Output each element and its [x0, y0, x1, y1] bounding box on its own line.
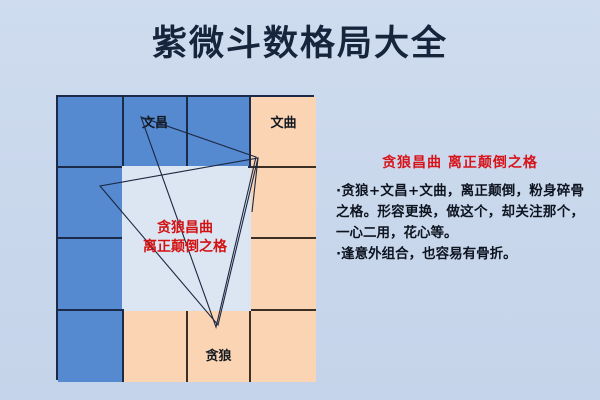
chart-cell-label: 文昌 — [142, 112, 168, 131]
info-heading: 贪狼昌曲 离正颠倒之格 — [336, 152, 584, 172]
astrology-chart: 文昌 文曲 贪狼 — [56, 95, 314, 380]
slide-canvas: 紫微斗数格局大全 文昌 文曲 贪狼 — [0, 0, 600, 400]
chart-cell-label: 贪狼 — [205, 345, 231, 364]
chart-cell-r3c4[interactable] — [251, 239, 316, 311]
chart-cell-r2c4[interactable] — [251, 168, 316, 239]
chart-cell-label: 文曲 — [270, 112, 296, 131]
chart-cell-r1c2-wenchang[interactable]: 文昌 — [124, 97, 188, 168]
chart-cell-r4c1[interactable] — [58, 311, 124, 382]
chart-cell-r2c1[interactable] — [58, 168, 124, 239]
chart-center-pane — [122, 166, 248, 309]
info-paragraph-2: ·逢意外组合，也容易有骨折。 — [336, 244, 584, 265]
chart-cell-r1c1[interactable] — [58, 97, 124, 168]
chart-cell-r3c1[interactable] — [58, 239, 124, 311]
chart-cell-r4c2[interactable] — [124, 311, 188, 382]
chart-cell-r1c4-wenqu[interactable]: 文曲 — [251, 97, 316, 168]
chart-cell-r4c4[interactable] — [251, 311, 316, 382]
page-title: 紫微斗数格局大全 — [0, 22, 600, 66]
chart-cell-r4c3-tanlang[interactable]: 贪狼 — [188, 311, 251, 382]
info-panel: 贪狼昌曲 离正颠倒之格 ·贪狼+文昌+文曲，离正颠倒，粉身碎骨之格。形容更换，做… — [336, 152, 584, 265]
info-paragraph-1: ·贪狼+文昌+文曲，离正颠倒，粉身碎骨之格。形容更换，做这个，却关注那个，一心二… — [336, 181, 584, 244]
chart-cell-r1c3[interactable] — [188, 97, 251, 168]
